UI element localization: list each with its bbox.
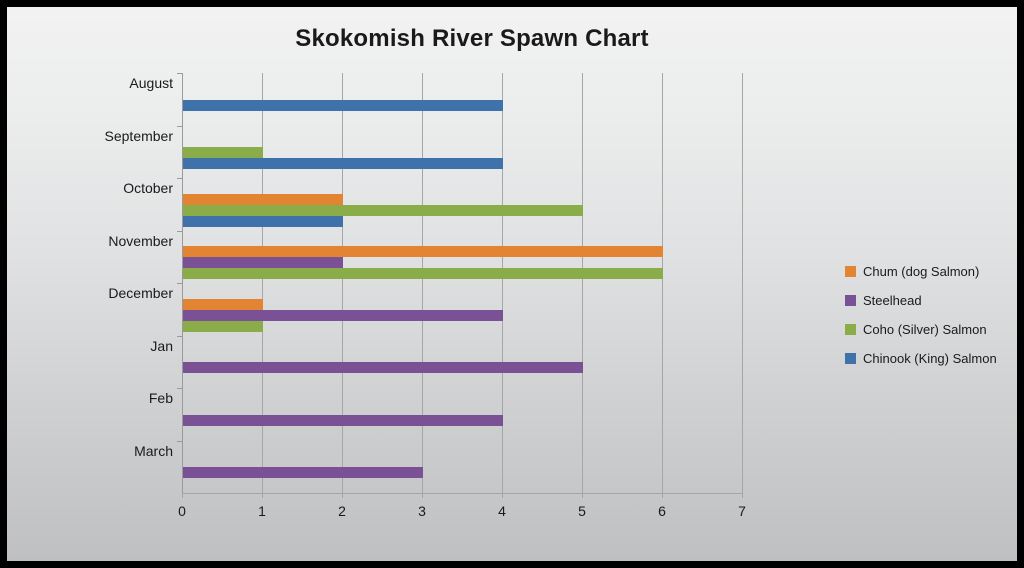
bar-october-chum-dog-salmon (183, 194, 343, 205)
legend-swatch-icon (845, 324, 856, 335)
gridline-3 (422, 73, 423, 493)
x-tick-1 (262, 493, 263, 498)
gridline-2 (342, 73, 343, 493)
category-label-feb: Feb (13, 390, 173, 406)
y-tick-3 (177, 231, 182, 232)
y-tick-7 (177, 441, 182, 442)
x-tick-6 (662, 493, 663, 498)
bar-march-steelhead (183, 467, 423, 478)
y-tick-6 (177, 388, 182, 389)
gridline-5 (582, 73, 583, 493)
bar-october-coho-silver-salmon (183, 205, 583, 216)
bar-november-coho-silver-salmon (183, 268, 663, 279)
x-axis-label-6: 6 (642, 503, 682, 519)
x-axis-label-4: 4 (482, 503, 522, 519)
legend-item[interactable]: Coho (Silver) Salmon (845, 315, 1015, 344)
x-axis-label-7: 7 (722, 503, 762, 519)
gridline-0 (182, 73, 183, 493)
gridline-1 (262, 73, 263, 493)
legend-swatch-icon (845, 295, 856, 306)
x-tick-5 (582, 493, 583, 498)
legend-swatch-icon (845, 266, 856, 277)
y-tick-1 (177, 126, 182, 127)
x-axis-line (182, 493, 742, 494)
x-tick-0 (182, 493, 183, 498)
legend-item[interactable]: Chum (dog Salmon) (845, 257, 1015, 286)
bar-jan-steelhead (183, 362, 583, 373)
chart-title: Skokomish River Spawn Chart (7, 25, 937, 53)
y-tick-5 (177, 336, 182, 337)
category-label-jan: Jan (13, 338, 173, 354)
gridline-4 (502, 73, 503, 493)
x-tick-3 (422, 493, 423, 498)
y-tick-0 (177, 73, 182, 74)
legend-label: Chum (dog Salmon) (863, 264, 979, 279)
category-label-august: August (13, 75, 173, 91)
y-axis-category-labels: AugustSeptemberOctoberNovemberDecemberJa… (7, 73, 173, 493)
legend-item[interactable]: Chinook (King) Salmon (845, 344, 1015, 373)
plot-area (182, 73, 742, 493)
bar-september-coho-silver-salmon (183, 147, 263, 158)
bar-december-coho-silver-salmon (183, 321, 263, 332)
bar-october-chinook-king-salmon (183, 216, 343, 227)
chart-legend: Chum (dog Salmon)SteelheadCoho (Silver) … (845, 257, 1015, 373)
y-tick-4 (177, 283, 182, 284)
bar-feb-steelhead (183, 415, 503, 426)
bar-november-steelhead (183, 257, 343, 268)
x-axis-label-1: 1 (242, 503, 282, 519)
x-tick-4 (502, 493, 503, 498)
x-tick-7 (742, 493, 743, 498)
x-axis-label-0: 0 (162, 503, 202, 519)
category-label-september: September (13, 128, 173, 144)
legend-item[interactable]: Steelhead (845, 286, 1015, 315)
category-label-october: October (13, 180, 173, 196)
chart-frame: Skokomish River Spawn Chart AugustSeptem… (7, 7, 1017, 561)
category-label-december: December (13, 285, 173, 301)
gridline-7 (742, 73, 743, 493)
legend-label: Coho (Silver) Salmon (863, 322, 987, 337)
x-tick-2 (342, 493, 343, 498)
bar-september-chinook-king-salmon (183, 158, 503, 169)
x-axis-label-3: 3 (402, 503, 442, 519)
bar-december-steelhead (183, 310, 503, 321)
bar-august-chinook-king-salmon (183, 100, 503, 111)
gridline-6 (662, 73, 663, 493)
x-axis-label-5: 5 (562, 503, 602, 519)
bar-december-chum-dog-salmon (183, 299, 263, 310)
legend-swatch-icon (845, 353, 856, 364)
category-label-march: March (13, 443, 173, 459)
bar-november-chum-dog-salmon (183, 246, 663, 257)
legend-label: Steelhead (863, 293, 922, 308)
x-axis-label-2: 2 (322, 503, 362, 519)
legend-label: Chinook (King) Salmon (863, 351, 997, 366)
y-tick-2 (177, 178, 182, 179)
category-label-november: November (13, 233, 173, 249)
